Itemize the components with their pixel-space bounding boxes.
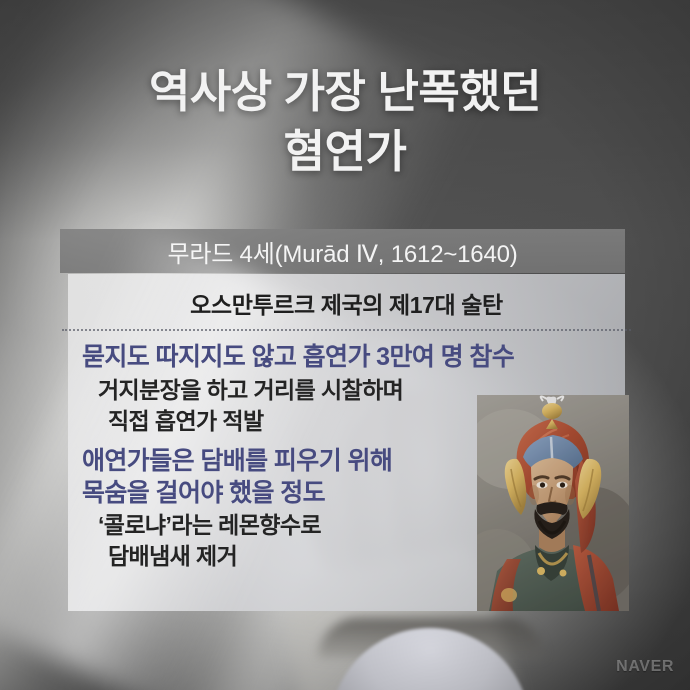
fact-lead-continued: 목숨을 걸어야 했을 정도 (82, 478, 392, 510)
fact-lead: 애연가들은 담배를 피우기 위해 (82, 446, 392, 478)
subject-name: 무라드 4세(Murād Ⅳ, 1612~1640) (60, 229, 625, 273)
subject-name-band: 무라드 4세(Murād Ⅳ, 1612~1640) (60, 229, 625, 273)
fact-detail: 담배냄새 제거 (108, 542, 392, 571)
fact-detail: 직접 흡연가 적발 (108, 407, 514, 436)
page-title: 역사상 가장 난폭했던 혐연가 (0, 62, 690, 183)
fact-block: 묻지도 따지지도 않고 흡연가 3만여 명 참수 거지분장을 하고 거리를 시찰… (82, 342, 514, 436)
fact-block: 애연가들은 담배를 피우기 위해 목숨을 걸어야 했을 정도 ‘콜로냐’라는 레… (82, 446, 392, 572)
fact-lead: 묻지도 따지지도 않고 흡연가 3만여 명 참수 (82, 342, 514, 374)
murad-iv-portrait (477, 395, 629, 611)
naver-watermark: NAVER (616, 658, 674, 676)
page-title-line-1: 역사상 가장 난폭했던 (0, 62, 690, 122)
page-title-line-2: 혐연가 (0, 122, 690, 182)
dotted-divider (62, 329, 631, 331)
fact-detail: ‘콜로냐’라는 레몬향수로 (98, 511, 392, 540)
fact-detail: 거지분장을 하고 거리를 시찰하며 (98, 376, 514, 405)
subject-role: 오스만투르크 제국의 제17대 술탄 (68, 286, 625, 320)
infographic-card: 역사상 가장 난폭했던 혐연가 무라드 4세(Murād Ⅳ, 1612~164… (0, 0, 690, 690)
